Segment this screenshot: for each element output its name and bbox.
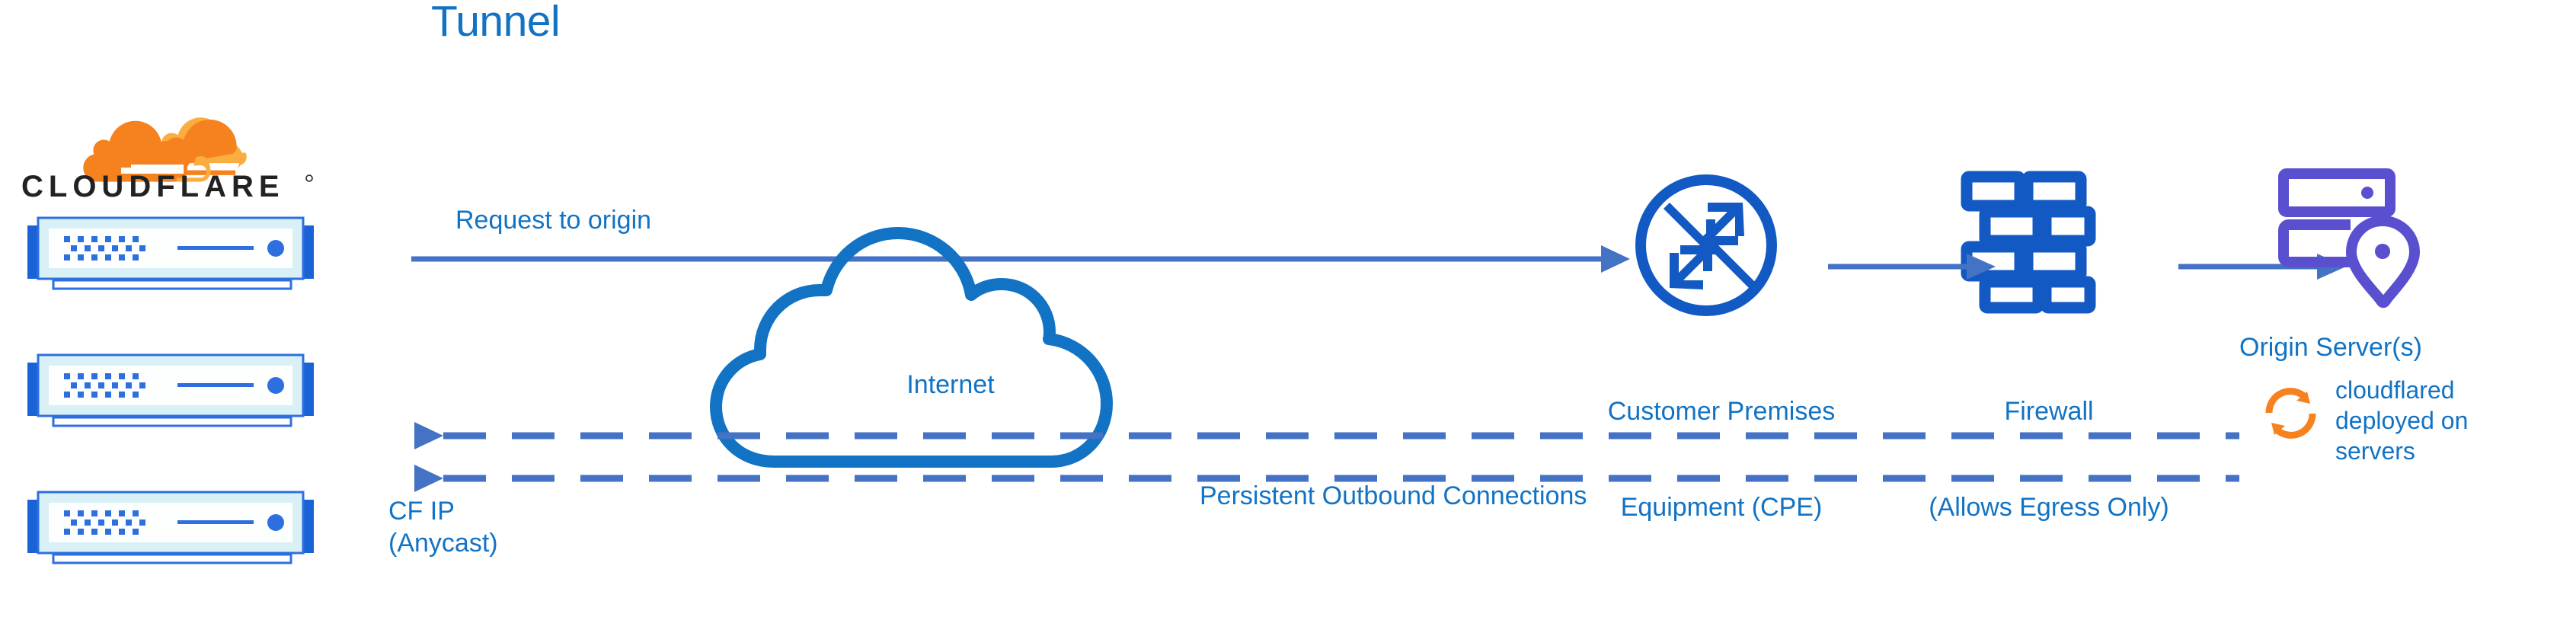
refresh-circular-arrows-icon	[2258, 381, 2323, 446]
firewall-label-line1: Firewall	[1858, 395, 2239, 427]
cpe-label-line2: Equipment (CPE)	[1531, 491, 1912, 523]
cf-server-icon	[14, 489, 328, 565]
origin-server-label: Origin Server(s)	[2239, 331, 2574, 363]
cf-server-icon	[14, 352, 328, 428]
persistent-outbound-connections-label: Persistent Outbound Connections	[1200, 480, 1587, 512]
cloudflare-wordmark-text: CLOUDFLARE	[21, 170, 285, 203]
firewall-label-line2: (Allows Egress Only)	[1858, 491, 2239, 523]
diagram-canvas: Tunnel CLOUDFLARE	[0, 0, 2576, 617]
cloudflare-wordmark: CLOUDFLARE	[21, 169, 318, 204]
brick-wall-icon	[1958, 169, 2102, 314]
cpe-label: Customer Premises Equipment (CPE)	[1531, 331, 1912, 587]
router-four-arrows-icon	[1630, 169, 1782, 321]
cf-ip-anycast-label: CF IP (Anycast)	[388, 495, 498, 559]
internet-label: Internet	[863, 369, 1038, 401]
cpe-label-line1: Customer Premises	[1531, 395, 1912, 427]
cpe-to-firewall-arrow	[1828, 248, 1996, 286]
origin-server-pin-icon	[2277, 168, 2430, 312]
request-to-origin-label: Request to origin	[455, 204, 651, 236]
firewall-label: Firewall (Allows Egress Only)	[1858, 331, 2239, 587]
cf-server-icon	[14, 215, 328, 291]
cloudflared-note-label: cloudflared deployed on servers	[2335, 375, 2564, 466]
page-title: Tunnel	[431, 0, 560, 43]
